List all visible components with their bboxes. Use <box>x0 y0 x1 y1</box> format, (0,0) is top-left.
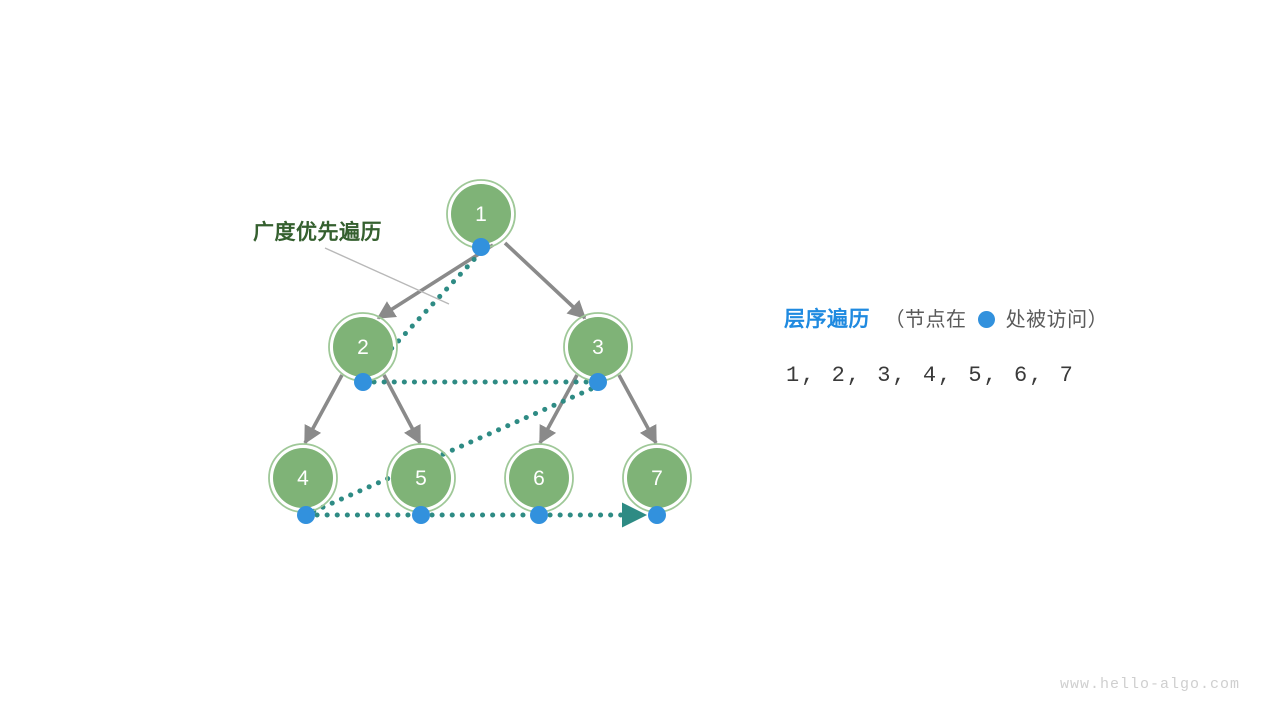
binary-tree-bfs-diagram: 1234567 <box>0 0 1280 720</box>
pointer-line <box>325 248 449 304</box>
legend-description: （节点在 处被访问） <box>884 309 1108 331</box>
visit-point-dot-icon <box>978 311 995 328</box>
legend-title: 层序遍历 <box>784 308 870 331</box>
visit-point-dot-7 <box>648 506 666 524</box>
visit-point-dot-4 <box>297 506 315 524</box>
visit-point-dot-1 <box>472 238 490 256</box>
traversal-sequence: 1, 2, 3, 4, 5, 6, 7 <box>786 363 1075 388</box>
node-label: 7 <box>651 467 663 490</box>
node-label: 1 <box>475 203 487 226</box>
node-label: 3 <box>592 336 604 359</box>
bfs-annotation-label: 广度优先遍历 <box>253 216 382 246</box>
diagram-canvas: 1234567 广度优先遍历 层序遍历 （节点在 处被访问） 1, 2, 3, … <box>0 0 1280 720</box>
tree-node-5: 5 <box>387 444 455 512</box>
visit-point-dot-2 <box>354 373 372 391</box>
tree-node-4: 4 <box>269 444 337 512</box>
tree-node-3: 3 <box>564 313 632 381</box>
visit-point-dot-6 <box>530 506 548 524</box>
tree-node-6: 6 <box>505 444 573 512</box>
tree-node-7: 7 <box>623 444 691 512</box>
node-label: 2 <box>357 336 369 359</box>
tree-edge-n2-n4 <box>305 375 342 443</box>
legend-text-after: 处被访问） <box>1006 309 1109 331</box>
tree-edge-n2-n5 <box>384 375 420 443</box>
visit-point-group <box>297 238 666 524</box>
visit-point-dot-3 <box>589 373 607 391</box>
site-watermark: www.hello-algo.com <box>1060 676 1240 693</box>
tree-node-1: 1 <box>447 180 515 248</box>
legend-text-before: （节点在 <box>884 309 966 331</box>
node-label: 4 <box>297 467 309 490</box>
tree-edge-n3-n7 <box>619 375 656 443</box>
legend: 层序遍历 （节点在 处被访问） <box>784 303 1108 333</box>
node-label: 6 <box>533 467 545 490</box>
node-label: 5 <box>415 467 427 490</box>
annotation-pointer-line <box>325 248 449 304</box>
tree-node-2: 2 <box>329 313 397 381</box>
tree-edge-n1-n3 <box>505 243 585 318</box>
tree-edge-n1-n2 <box>378 245 493 318</box>
visit-point-dot-5 <box>412 506 430 524</box>
